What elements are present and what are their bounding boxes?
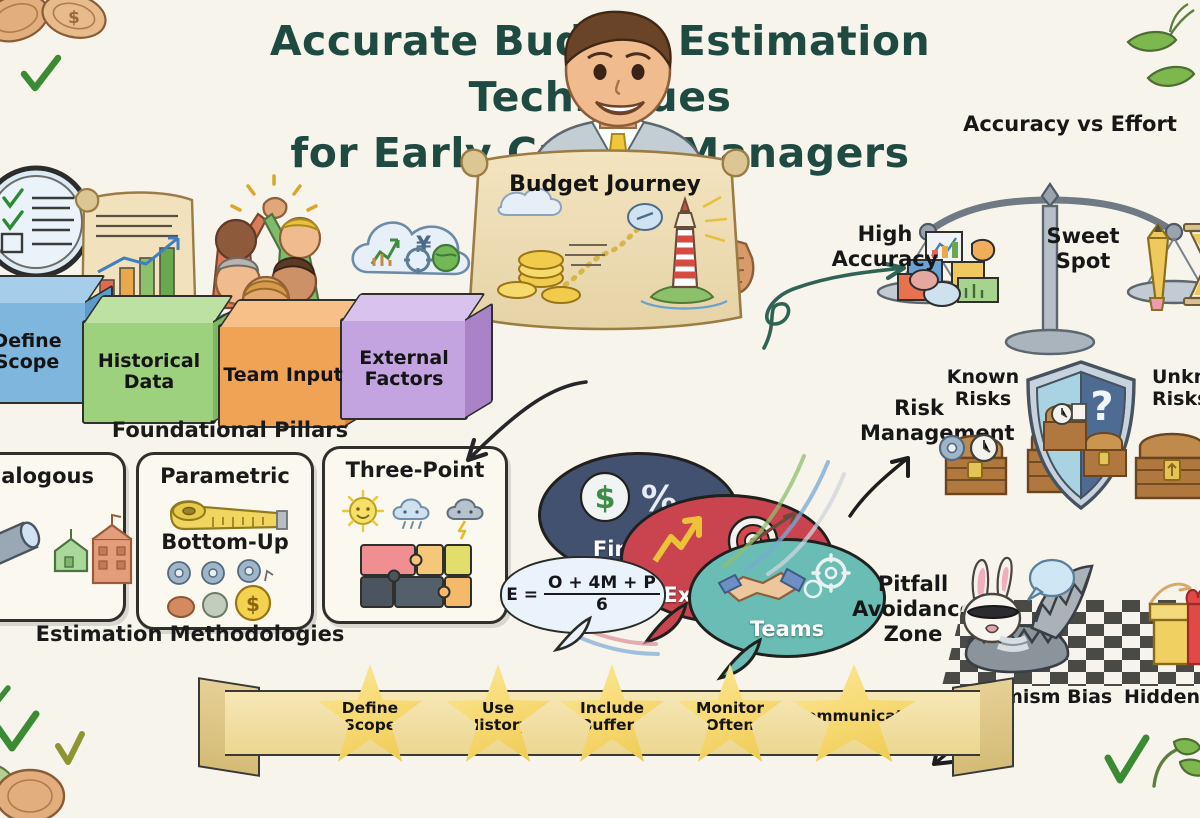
external-factors-cloud-icon: ¥ — [344, 196, 474, 306]
methodology-card-parametric[interactable]: Parametric Bottom-Up $ — [136, 452, 314, 630]
foundational-pillars-caption: Foundational Pillars — [60, 418, 400, 442]
formula-lhs: E = — [506, 585, 538, 605]
balance-left-label: High Accuracy — [820, 222, 950, 272]
svg-text:$: $ — [246, 592, 260, 616]
coin-cluster-bottom-left — [0, 686, 162, 811]
coin-cluster-top-left: $ — [0, 0, 138, 112]
risk-shield-icon: ? — [1020, 358, 1142, 514]
leaf-check-bottom-right — [1080, 728, 1200, 818]
formula-bubble-tail — [552, 614, 598, 654]
teams-bubble-tail — [714, 636, 770, 682]
pillar-block-3-top — [341, 293, 486, 321]
arrow-to-risk — [846, 432, 926, 520]
svg-text:$: $ — [595, 481, 616, 516]
budget-journey-scroll: Budget Journey — [455, 145, 755, 340]
infographic-canvas: $ Accurate Budget Estimation Techniques … — [0, 0, 1200, 800]
scroll-title: Budget Journey — [509, 172, 701, 197]
bubble-motion-lines — [716, 448, 846, 578]
pillar-block-0[interactable]: Define Scope — [0, 300, 88, 404]
pillar-block-3-label: External Factors — [342, 348, 466, 391]
puzzle-pieces-icon — [359, 543, 475, 609]
formula-numerator: O + 4M + P — [544, 574, 660, 595]
pillar-block-2-label: Team Input — [223, 365, 342, 386]
pillar-block-2-face: Team Input — [220, 326, 346, 426]
pillar-block-1-face: Historical Data — [84, 322, 214, 422]
takeaway-star-1-label: Use History — [466, 700, 529, 734]
methodology-card-parametric-subtitle: Bottom-Up — [139, 530, 311, 554]
svg-text:¥: ¥ — [416, 233, 432, 258]
methodology-card-analogous-title: Analogous — [0, 464, 123, 488]
pillar-block-0-face: Define Scope — [0, 302, 86, 402]
pillar-block-1[interactable]: Historical Data — [82, 320, 216, 424]
optimism-bias-trap-icon — [940, 542, 1120, 682]
pitfall-item-hidden-costs-label: Hidden Costs — [1124, 686, 1200, 708]
takeaway-star-0-label: Define Scope — [342, 700, 398, 734]
risk-unknown-label: Unknown Risks — [1152, 366, 1200, 411]
pillar-block-0-label: Define Scope — [0, 331, 86, 374]
tape-measure-icon — [165, 495, 291, 533]
svg-text:$: $ — [68, 8, 80, 28]
telescope-icon — [0, 499, 117, 611]
formula-denominator: 6 — [596, 595, 608, 615]
hidden-costs-gift-icon — [1140, 576, 1200, 672]
weather-scenarios-icon — [339, 489, 495, 537]
methodology-card-parametric-title: Parametric — [139, 464, 311, 488]
leaf-sprig-top-right — [1108, 4, 1200, 114]
estimation-methodologies-caption: Estimation Methodologies — [0, 622, 400, 646]
pillar-block-2[interactable]: Team Input — [218, 324, 348, 428]
balance-center-label: Sweet Spot — [1024, 224, 1142, 274]
balance-title: Accuracy vs Effort — [955, 112, 1185, 137]
pillar-block-1-top — [83, 295, 234, 323]
shield-question-mark: ? — [1090, 384, 1113, 430]
gears-coin-icon: $ — [161, 559, 293, 621]
methodology-card-analogous[interactable]: Analogous — [0, 452, 126, 622]
pillar-block-1-label: Historical Data — [84, 351, 214, 394]
